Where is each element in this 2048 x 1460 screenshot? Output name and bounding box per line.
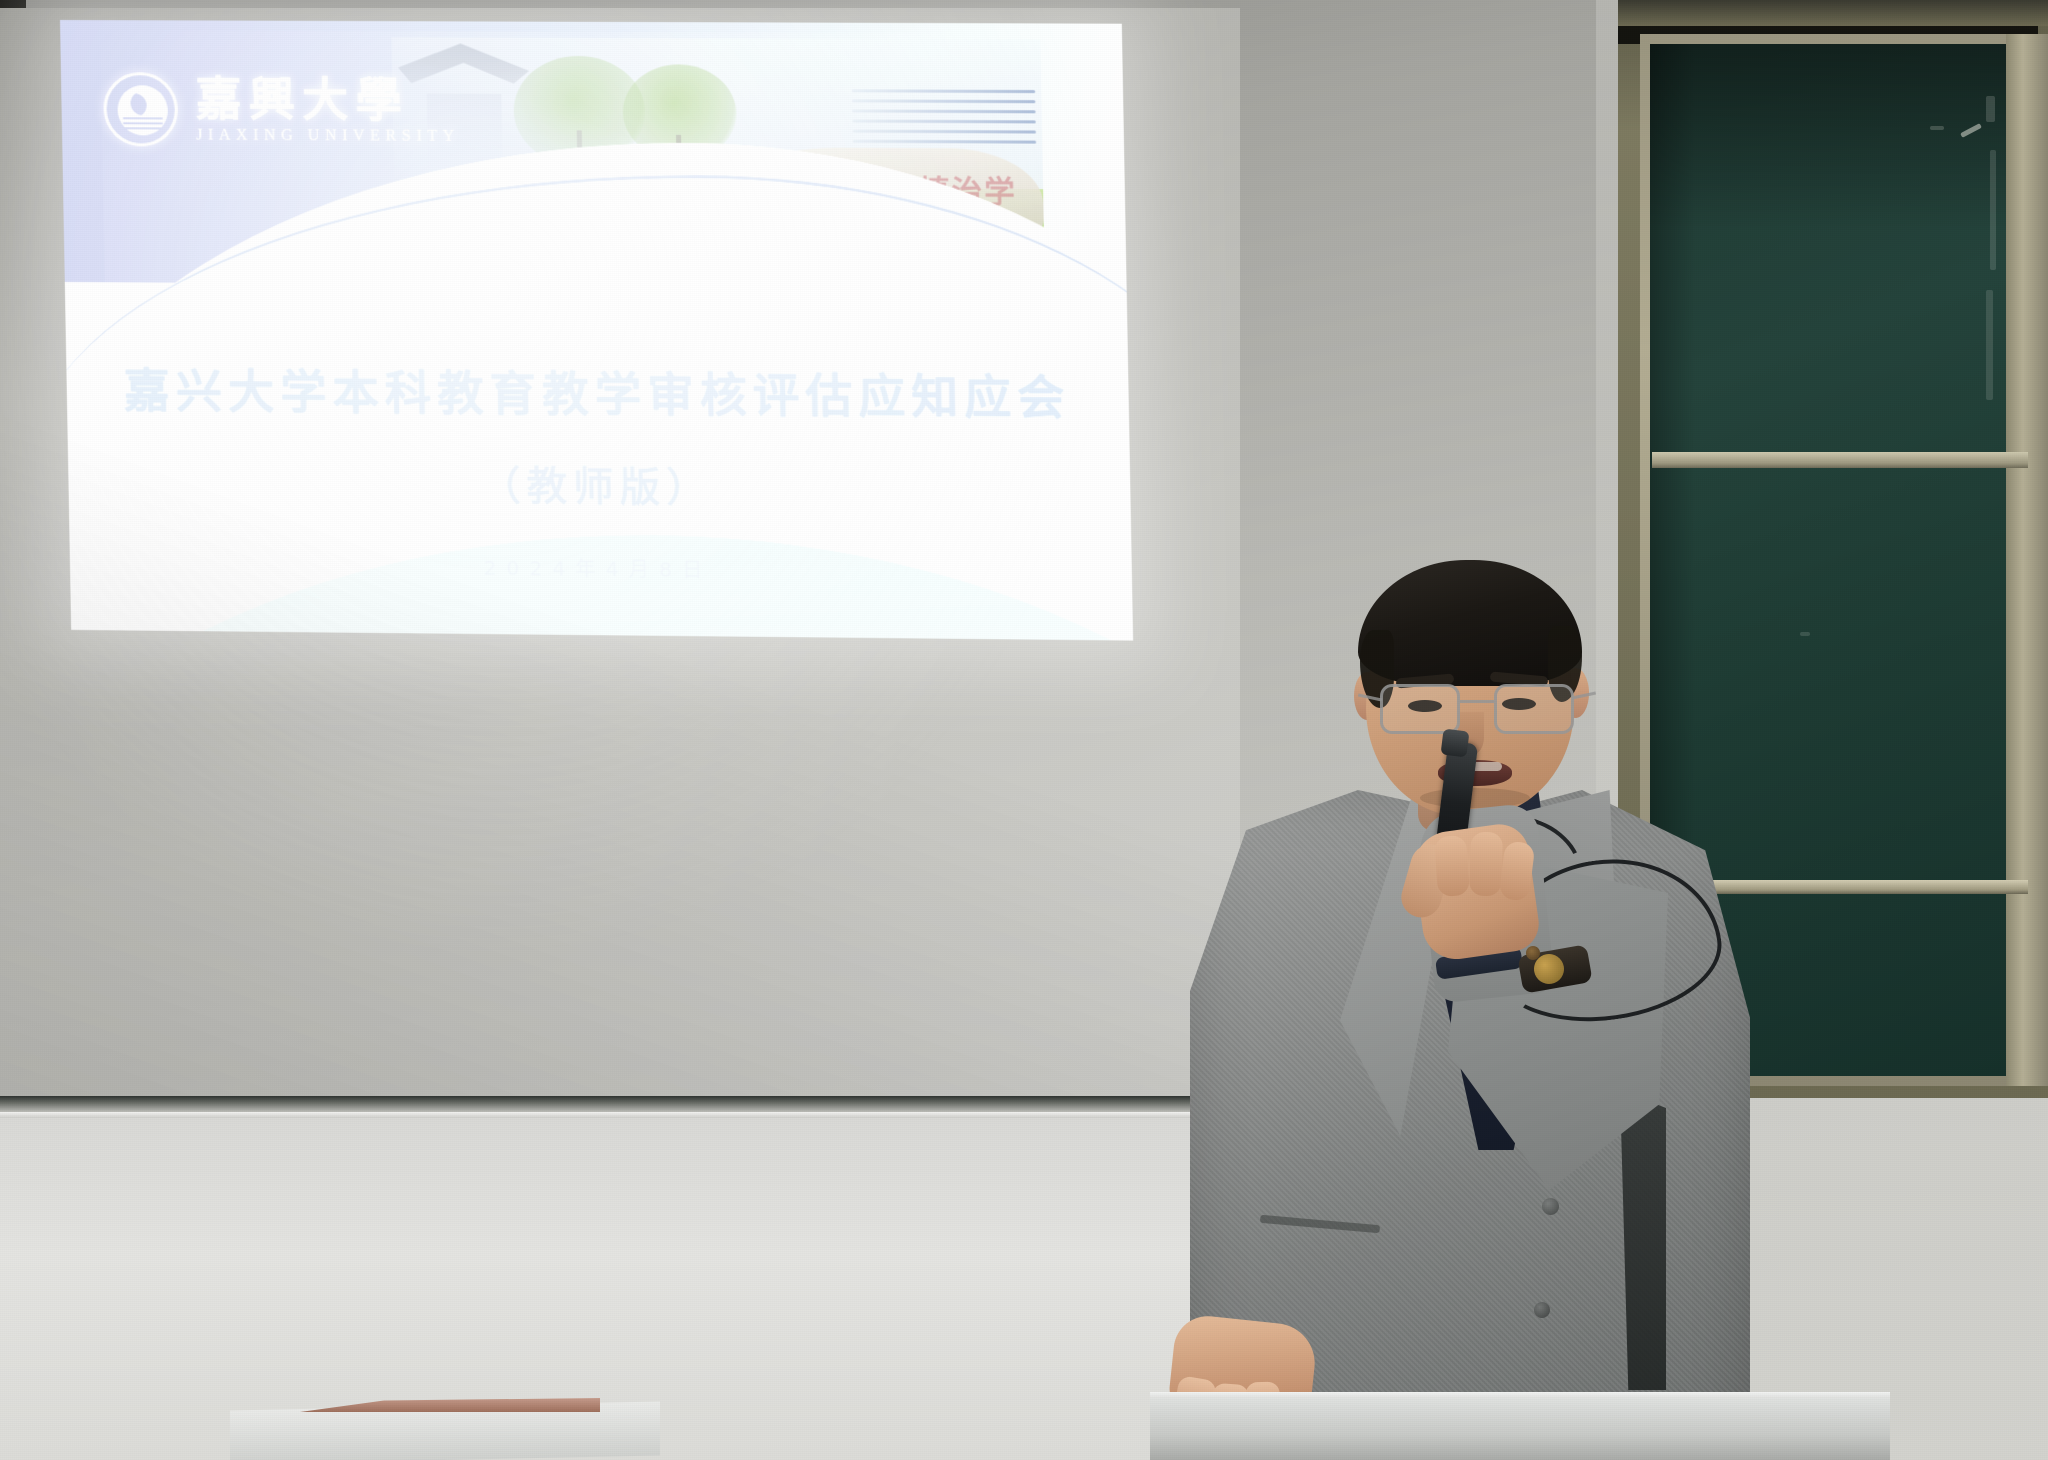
seal-wave-lines (123, 117, 163, 131)
jacket-button (1542, 1198, 1559, 1215)
finger (1434, 835, 1470, 897)
chalk-mark (1986, 290, 1993, 400)
lens-right (1494, 684, 1574, 734)
classroom-scene: 方正为人 勤慎治学 嘉興大學 JIAXING UNIVERS (0, 0, 2048, 1460)
chalk-mark (1986, 96, 1995, 122)
slide-subtitle: （教师版） (68, 450, 1131, 517)
presenter (1190, 560, 1750, 1460)
microphone-clip-icon (1526, 946, 1540, 960)
chalk-mark (1930, 126, 1944, 130)
slide-title: 嘉兴大学本科教育教学审核评估应知应会 (66, 354, 1129, 428)
chalkboard-ledge (1652, 452, 2028, 468)
eyeglasses-icon (1380, 684, 1574, 736)
chalk-mark (1990, 150, 1996, 270)
brand-text: 嘉興大學 JIAXING UNIVERSITY (195, 74, 460, 146)
slide-canvas: 方正为人 勤慎治学 嘉興大學 JIAXING UNIVERS (60, 20, 1133, 641)
brand-lockup: 嘉興大學 JIAXING UNIVERSITY (103, 72, 460, 148)
jacket-button (1534, 1302, 1550, 1318)
lens-left (1380, 684, 1460, 734)
brand-name-en: JIAXING UNIVERSITY (196, 127, 460, 146)
chalk-mark (1800, 632, 1810, 636)
glasses-bridge (1460, 700, 1494, 703)
jiaxing-university-seal-icon (103, 72, 178, 146)
microphone-capsule (1441, 729, 1470, 758)
chalkboard-top-trim (1618, 0, 2048, 26)
finger (1469, 831, 1503, 896)
lectern-surface (1150, 1398, 1890, 1460)
projected-slide: 方正为人 勤慎治学 嘉興大學 JIAXING UNIVERS (60, 20, 1133, 641)
brand-name-cn: 嘉興大學 (195, 74, 459, 124)
chalkboard-right-rail (2006, 34, 2048, 1086)
